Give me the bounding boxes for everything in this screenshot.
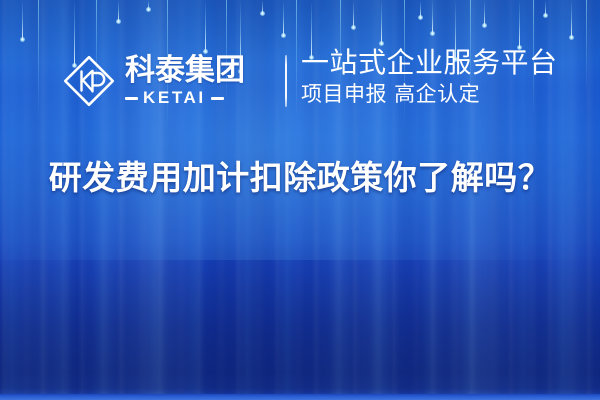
- promo-banner: 科泰集团 KETAI 一站式企业服务平台 项目申报 高企认定 研发费用加计扣除政…: [0, 0, 600, 400]
- logo-company-en-row: KETAI: [125, 89, 245, 107]
- tagline-primary: 一站式企业服务平台: [301, 46, 561, 79]
- logo-dash-left-icon: [125, 97, 138, 100]
- headline-text: 研发费用加计扣除政策你了解吗？: [0, 158, 600, 198]
- logo-company-en: KETAI: [143, 89, 206, 107]
- header-divider: [285, 55, 287, 107]
- company-logo: 科泰集团 KETAI: [62, 44, 245, 118]
- banner-header: 科泰集团 KETAI 一站式企业服务平台 项目申报 高企认定: [0, 44, 600, 118]
- footer-accent-line: [0, 394, 600, 400]
- ketai-diamond-kt-monogram-icon: [62, 54, 116, 108]
- tagline: 一站式企业服务平台 项目申报 高企认定: [301, 46, 561, 107]
- logo-wordmark: 科泰集团 KETAI: [125, 55, 245, 107]
- tagline-secondary: 项目申报 高企认定: [301, 81, 561, 107]
- logo-dash-right-icon: [211, 97, 224, 100]
- logo-company-cn: 科泰集团: [125, 55, 245, 87]
